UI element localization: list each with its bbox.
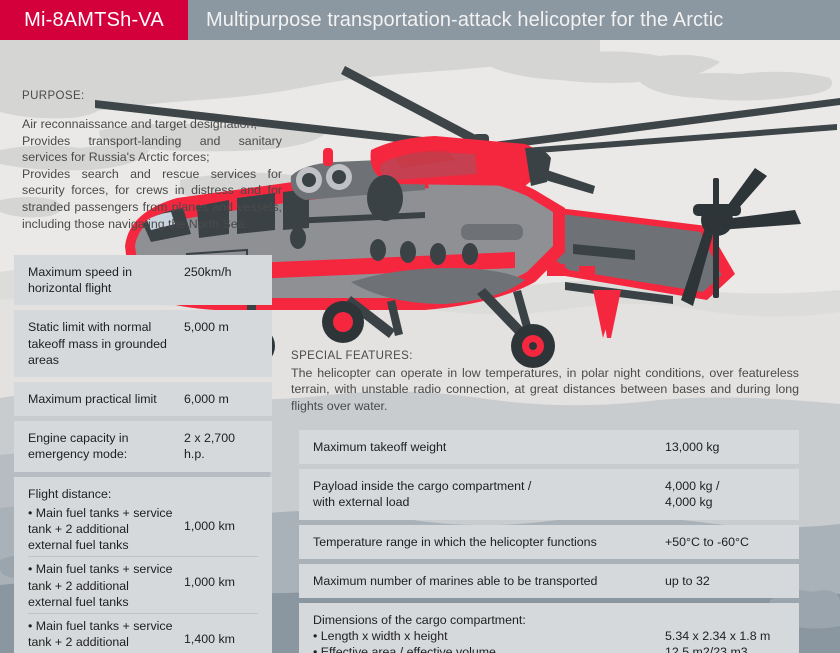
spec-value: 1,400 km (184, 618, 258, 647)
right-spec-table: Maximum takeoff weight 13,000 kg Payload… (299, 430, 799, 653)
table-row: Maximum takeoff weight 13,000 kg (299, 430, 799, 464)
header-bar: Mi-8AMTSh-VA Multipurpose transportation… (0, 0, 840, 40)
spec-label: • Main fuel tanks + service tank + 2 add… (28, 561, 184, 610)
purpose-block: PURPOSE: Air reconnaissance and target d… (22, 90, 282, 232)
table-row: Static limit with normal takeoff mass in… (14, 310, 272, 377)
spec-value: 2 x 2,700 h.p. (184, 430, 258, 462)
table-row: Engine capacity in emergency mode: 2 x 2… (14, 421, 272, 471)
special-features-body: The helicopter can operate in low temper… (291, 365, 799, 414)
model-badge: Mi-8AMTSh-VA (0, 0, 188, 40)
special-features-block: SPECIAL FEATURES: The helicopter can ope… (291, 350, 799, 414)
spec-value: 250km/h (184, 264, 258, 280)
table-row: Maximum practical limit 6,000 m (14, 382, 272, 416)
cargo-dimensions-label-2: • Effective area / effective volume (313, 644, 657, 653)
table-row: • Main fuel tanks + service tank + 2 add… (28, 556, 258, 610)
table-row: • Main fuel tanks + service tank + 2 add… (28, 613, 258, 653)
purpose-line-1: Air reconnaissance and target designatio… (22, 116, 282, 133)
cargo-dimensions-value-1: 5.34 x 2.34 x 1.8 m (665, 628, 785, 644)
spec-label: Engine capacity in emergency mode: (28, 430, 184, 462)
cargo-dimensions-group: Dimensions of the cargo compartment: • L… (299, 603, 799, 653)
spec-label: Static limit with normal takeoff mass in… (28, 319, 184, 368)
table-row: Temperature range in which the helicopte… (299, 525, 799, 559)
spec-label: Maximum practical limit (28, 391, 184, 407)
spec-value: 6,000 m (184, 391, 258, 407)
table-row: • Main fuel tanks + service tank + 2 add… (28, 503, 258, 554)
purpose-label: PURPOSE: (22, 90, 282, 102)
left-spec-table: Maximum speed in horizontal flight 250km… (14, 255, 272, 653)
purpose-line-2: Provides transport-landing and sanitary … (22, 133, 282, 166)
table-row: Payload inside the cargo compartment / w… (299, 469, 799, 519)
purpose-body: Air reconnaissance and target designatio… (22, 116, 282, 232)
table-row: Maximum number of marines able to be tra… (299, 564, 799, 598)
spec-label: Maximum number of marines able to be tra… (313, 573, 665, 589)
flight-distance-title: Flight distance: (28, 486, 258, 502)
spec-label: Maximum speed in horizontal flight (28, 264, 184, 296)
cargo-dimensions-label-1: • Length x width x height (313, 628, 657, 644)
spec-value: 13,000 kg (665, 439, 785, 455)
cargo-dimensions-value-2: 12.5 m2/23 m3 (665, 644, 785, 653)
cargo-dimensions-title: Dimensions of the cargo compartment: (313, 612, 657, 628)
spec-value: 1,000 km (184, 561, 258, 590)
spec-value: 5,000 m (184, 319, 258, 335)
special-features-label: SPECIAL FEATURES: (291, 350, 799, 362)
table-row: Maximum speed in horizontal flight 250km… (14, 255, 272, 305)
spec-label: Maximum takeoff weight (313, 439, 665, 455)
spec-label: • Main fuel tanks + service tank + 2 add… (28, 618, 184, 653)
spec-value: +50°C to -60°C (665, 534, 785, 550)
spec-label: • Main fuel tanks + service tank + 2 add… (28, 505, 184, 554)
infographic-poster: Mi-8AMTSh-VA Multipurpose transportation… (0, 0, 840, 653)
purpose-line-3: Provides search and rescue services for … (22, 166, 282, 232)
spec-label: Temperature range in which the helicopte… (313, 534, 665, 550)
spec-value: 4,000 kg / 4,000 kg (665, 478, 785, 510)
spec-value: 1,000 km (184, 505, 258, 534)
spec-value: up to 32 (665, 573, 785, 589)
page-title: Multipurpose transportation-attack helic… (188, 0, 840, 40)
spec-label: Payload inside the cargo compartment / w… (313, 478, 665, 510)
flight-distance-group: Flight distance: • Main fuel tanks + ser… (14, 477, 272, 653)
